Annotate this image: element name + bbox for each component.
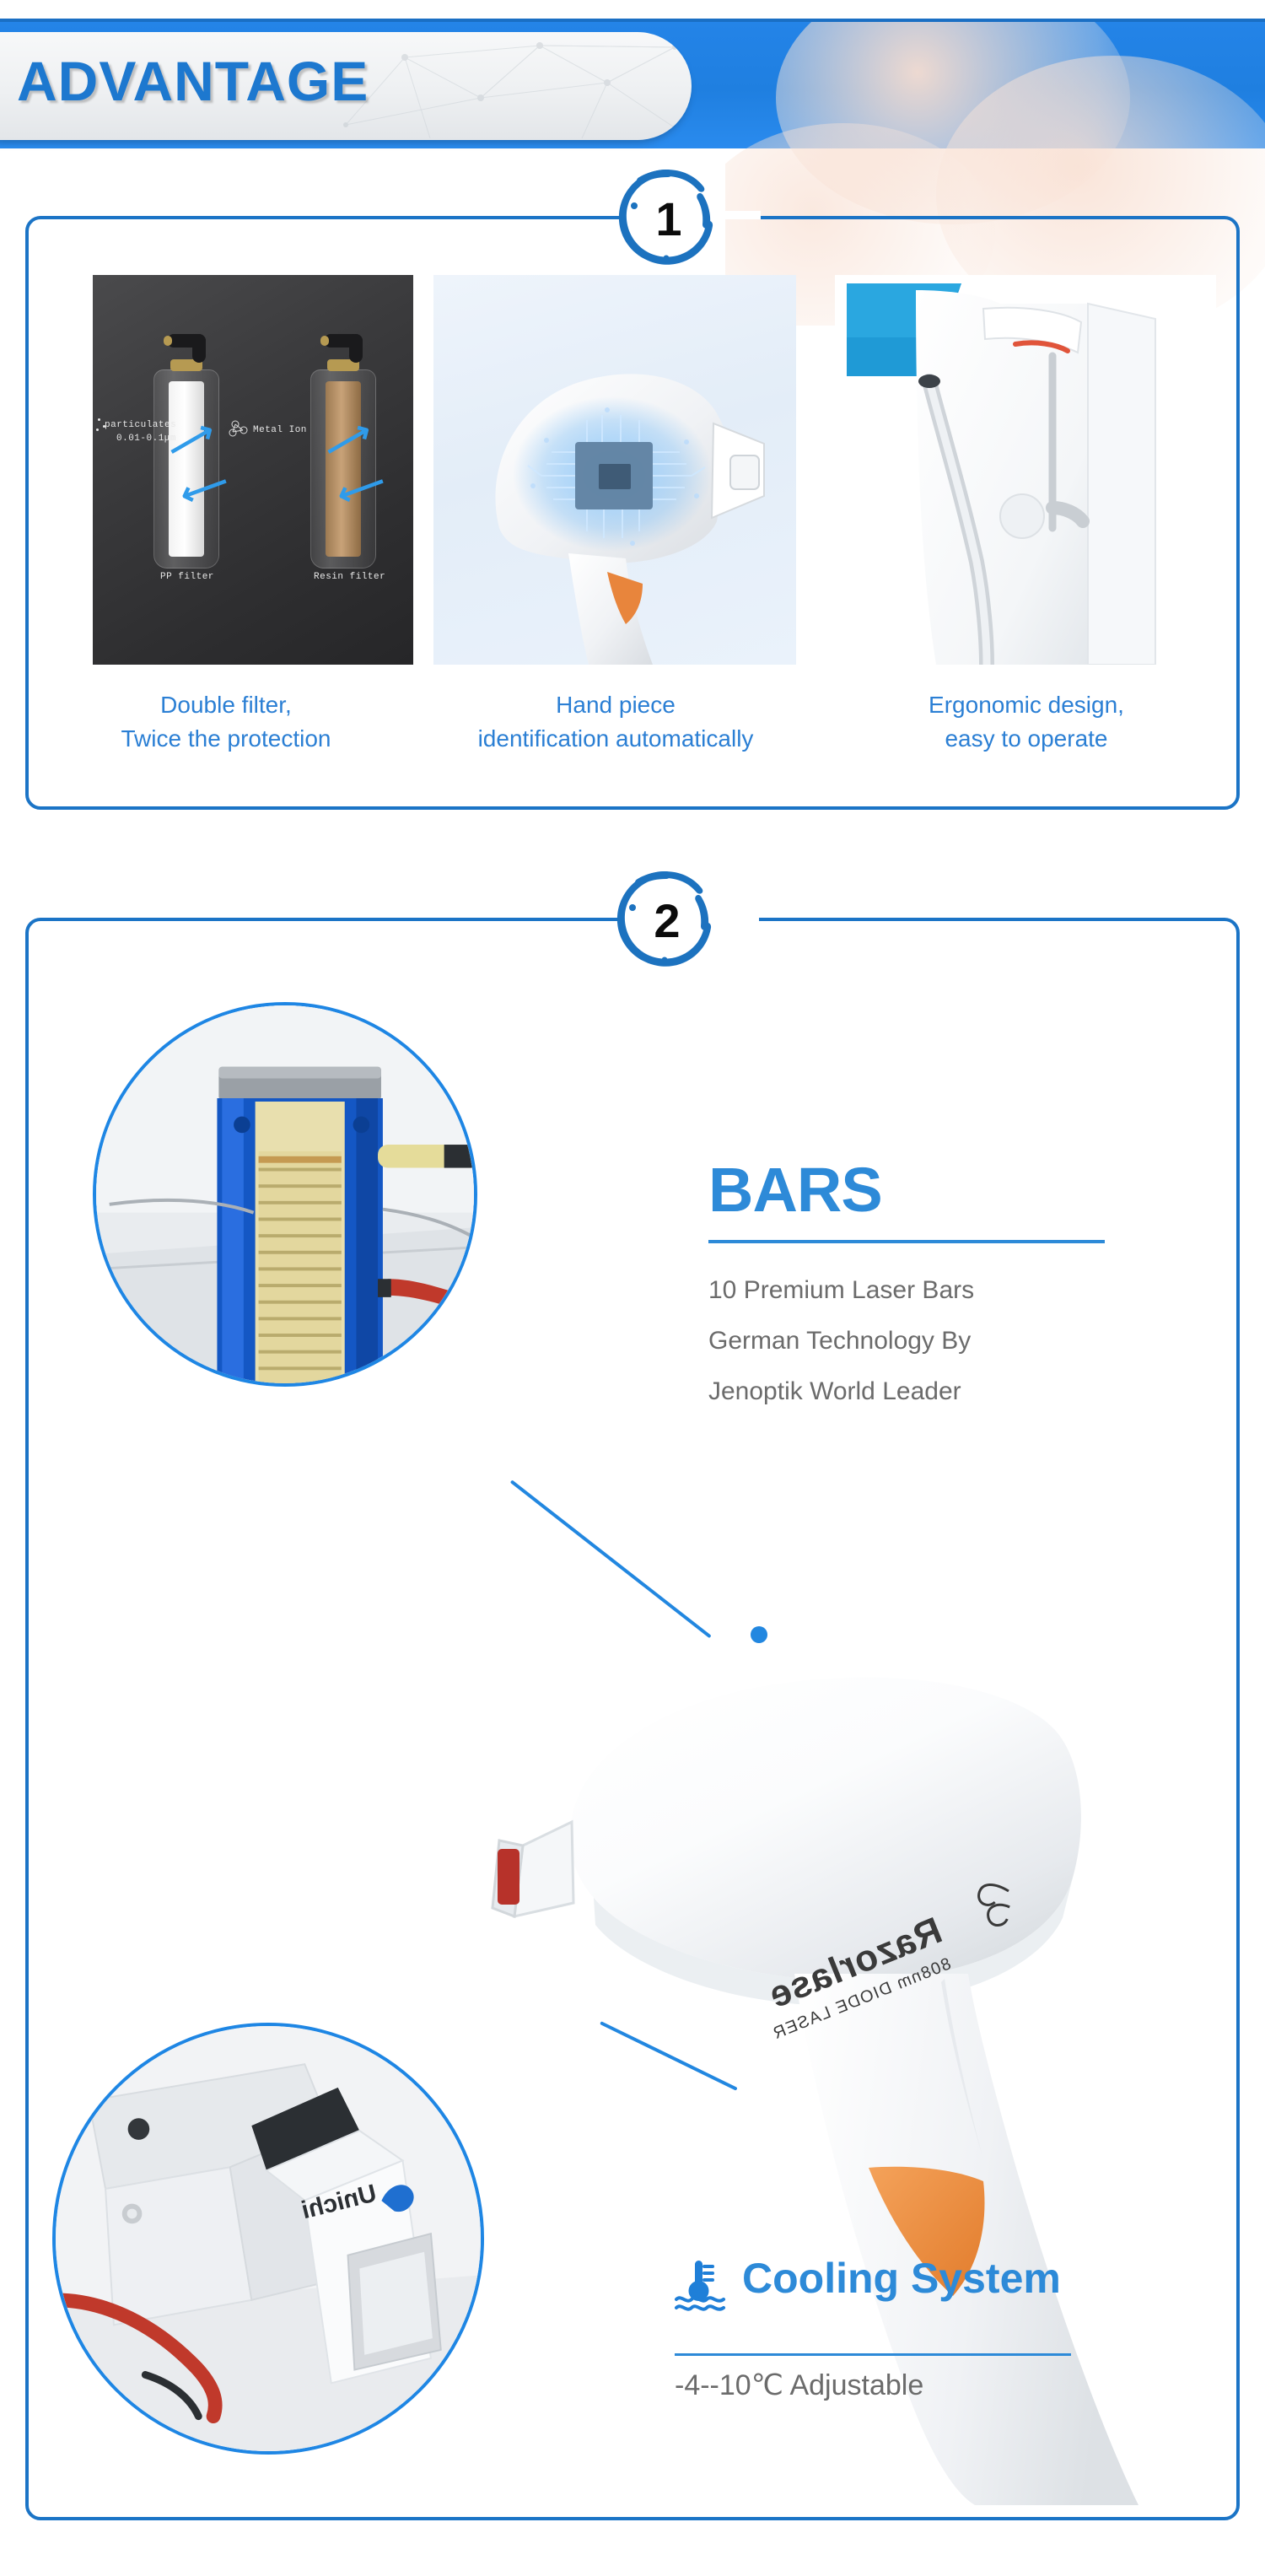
- card-1-caption-line-2: Twice the protection: [40, 722, 412, 756]
- section-2-badge-number: 2: [614, 869, 715, 970]
- machine-cradle-illustration: [835, 275, 1216, 665]
- handpiece-identification-image: [433, 275, 796, 665]
- bars-heading: BARS: [708, 1154, 882, 1226]
- thermometer-water-icon: [675, 2257, 727, 2311]
- bars-description: 10 Premium Laser Bars German Technology …: [708, 1265, 1164, 1417]
- handpiece-device-illustration: Razorlase 808nm DIODE LASER: [472, 1577, 1231, 2505]
- bars-line-1: 10 Premium Laser Bars: [708, 1265, 1164, 1316]
- laser-bar-stack-illustration: [96, 1005, 474, 1383]
- label-particulate-size: 0.01-0.1μm: [116, 434, 176, 444]
- section-1-cards: ⟶ ⟶ particulates 0.01-0.1μm PP filter ⟶ …: [25, 216, 1240, 810]
- card-2-caption-line-1: Hand piece: [422, 688, 810, 722]
- network-pattern-icon: [329, 32, 692, 140]
- section-1-badge: 1: [616, 167, 717, 268]
- cooling-tip-illustration: Unichi: [56, 2026, 481, 2451]
- label-particulates: particulates: [105, 420, 176, 430]
- header-title-panel: ADVANTAGE: [0, 32, 692, 140]
- section-2-badge: 2: [614, 869, 715, 970]
- cooling-subtitle: -4--10℃ Adjustable: [675, 2369, 923, 2402]
- label-metal-ion: Metal Ion: [253, 425, 307, 435]
- section-1-badge-number: 1: [616, 167, 717, 268]
- razorlase-handpiece: Razorlase 808nm DIODE LASER: [472, 1577, 1231, 2505]
- double-filter-image: ⟶ ⟶ particulates 0.01-0.1μm PP filter ⟶ …: [93, 275, 413, 665]
- handpiece-chip-illustration: [433, 275, 796, 665]
- card-3-caption-line-1: Ergonomic design,: [828, 688, 1225, 722]
- cooling-tip-photo: Unichi: [52, 2023, 484, 2455]
- molecule-icon: [228, 418, 250, 440]
- card-3-caption-line-2: easy to operate: [828, 722, 1225, 756]
- ergonomic-design-image: [835, 275, 1216, 665]
- bars-line-2: German Technology By: [708, 1316, 1164, 1366]
- cooling-underline: [675, 2353, 1071, 2356]
- label-resin-filter: Resin filter: [314, 572, 385, 582]
- card-2-caption-line-2: identification automatically: [422, 722, 810, 756]
- header-top-rule: [0, 19, 1265, 22]
- card-1-caption-line-1: Double filter,: [40, 688, 412, 722]
- page-header: ADVANTAGE: [0, 0, 1265, 148]
- page-title: ADVANTAGE: [17, 49, 369, 113]
- cooling-heading: Cooling System: [742, 2254, 1061, 2303]
- bars-underline: [708, 1240, 1105, 1243]
- bars-line-3: Jenoptik World Leader: [708, 1366, 1164, 1417]
- laser-bars-photo: [93, 1002, 477, 1387]
- label-pp-filter: PP filter: [160, 572, 214, 582]
